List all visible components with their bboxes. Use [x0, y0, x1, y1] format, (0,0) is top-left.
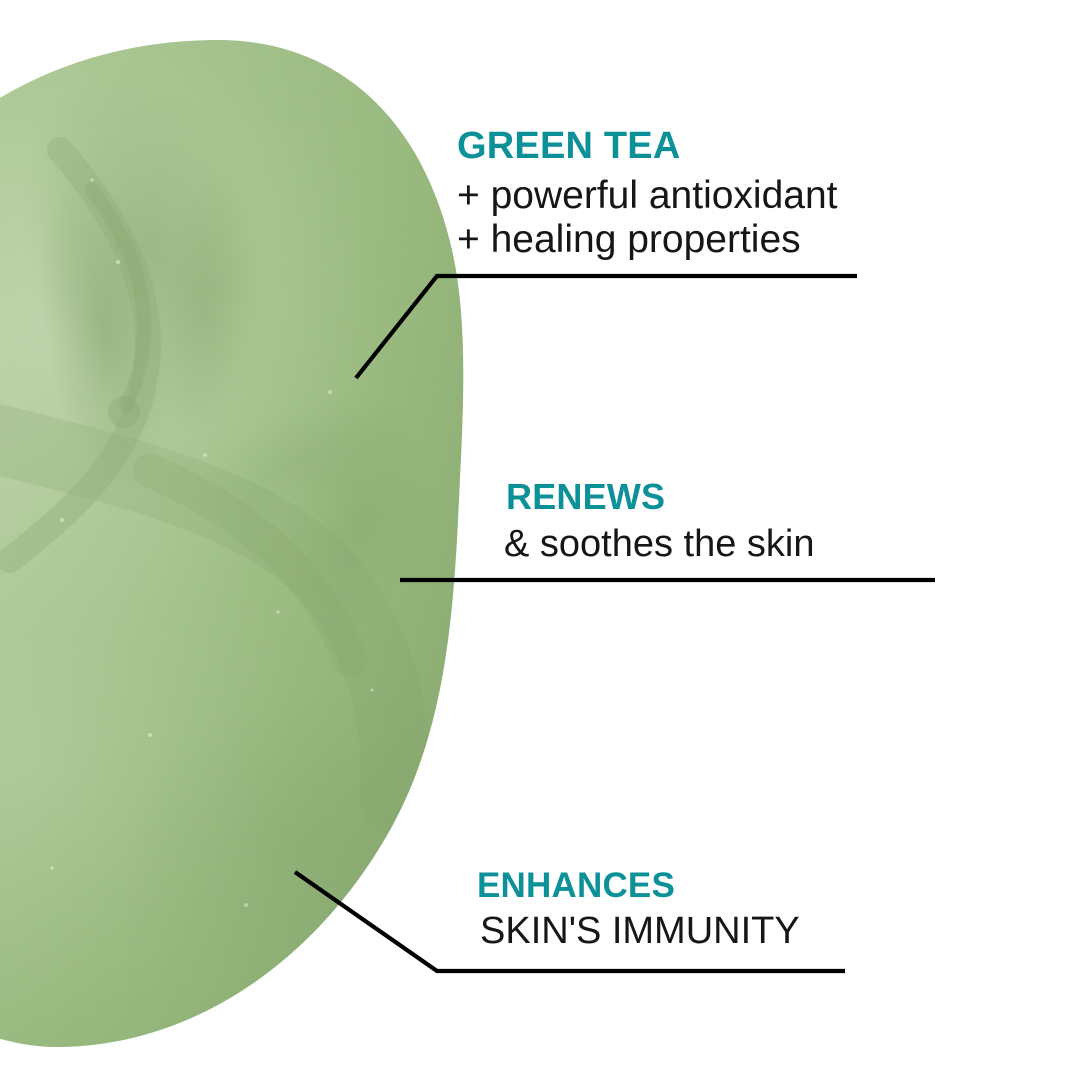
callout-enhances-line-1: SKIN'S IMMUNITY — [480, 910, 800, 953]
callout-green-tea-line-1: + powerful antioxidant — [457, 174, 838, 218]
callout-renews-line-1: & soothes the skin — [504, 523, 815, 566]
callout-renews-body: & soothes the skin — [504, 523, 815, 566]
callout-enhances-body: SKIN'S IMMUNITY — [480, 910, 800, 953]
leader-line-green-tea — [356, 276, 857, 378]
callout-enhances: ENHANCES SKIN'S IMMUNITY — [477, 868, 800, 953]
callout-renews-title: RENEWS — [506, 479, 815, 515]
callout-green-tea: GREEN TEA + powerful antioxidant + heali… — [457, 127, 838, 261]
infographic-canvas: GREEN TEA + powerful antioxidant + heali… — [0, 0, 1080, 1080]
callout-green-tea-line-2: + healing properties — [457, 218, 838, 262]
callout-green-tea-title: GREEN TEA — [457, 127, 838, 165]
callout-enhances-title: ENHANCES — [477, 868, 800, 903]
callout-green-tea-body: + powerful antioxidant + healing propert… — [457, 174, 838, 261]
callout-renews: RENEWS & soothes the skin — [506, 479, 815, 566]
